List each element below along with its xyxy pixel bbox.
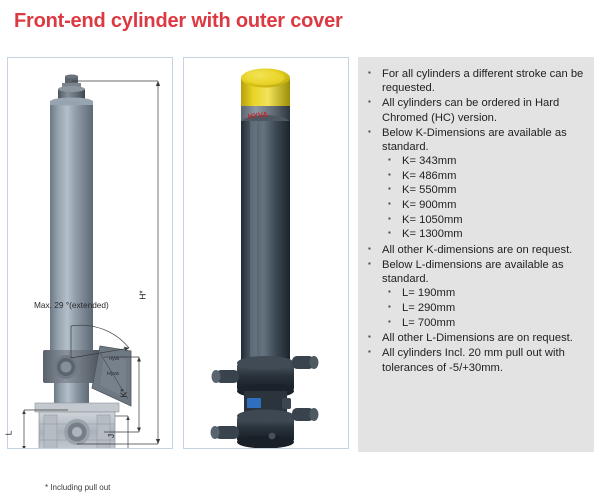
top-port-fitting	[58, 75, 85, 102]
list-item: All cylinders can be ordered in Hard Chr…	[366, 96, 584, 124]
list-item: All cylinders Incl. 20 mm pull out with …	[366, 346, 584, 374]
cylinder-outer-tube	[50, 98, 93, 360]
list-item: K= 1300mm	[382, 227, 584, 242]
list-item: All other K-dimensions are on request.	[366, 243, 584, 257]
panel-drawing-extended: Hyva Hyva	[7, 57, 173, 449]
dimension-label-L: L	[3, 431, 13, 436]
page-title: Front-end cylinder with outer cover	[14, 10, 343, 33]
list-item: Below L-dimensions are available as stan…	[366, 258, 584, 330]
panel-drawing-retracted: HYVA	[183, 57, 349, 449]
spec-text: All cylinders Incl. 20 mm pull out with …	[382, 347, 565, 373]
list-item: Below K-Dimensions are available as stan…	[366, 126, 584, 242]
list-item: L= 190mm	[382, 286, 584, 301]
max-angle-note: Max. 29 °(extended)	[34, 300, 109, 310]
list-item: All other L-Dimensions are on request.	[366, 331, 584, 345]
dimension-label-H: H*	[138, 290, 148, 299]
panel-specifications: For all cylinders a different stroke can…	[358, 57, 594, 452]
list-item: K= 900mm	[382, 198, 584, 213]
dimension-label-J: J	[106, 434, 116, 438]
cylinder-section-drawing: Hyva Hyva	[8, 58, 172, 448]
identification-sticker	[247, 398, 261, 408]
cylinder-3d-render: HYVA	[184, 58, 348, 448]
spec-text: Below L-dimensions are available as stan…	[382, 259, 564, 285]
list-item: K= 343mm	[382, 154, 584, 169]
spec-text: For all cylinders a different stroke can…	[382, 68, 583, 94]
list-item: L= 700mm	[382, 316, 584, 331]
spec-text: Below K-Dimensions are available as stan…	[382, 127, 567, 153]
spec-text: All cylinders can be ordered in Hard Chr…	[382, 97, 559, 123]
lower-trunnion-collar	[211, 408, 319, 448]
outer-cover-tube	[241, 121, 290, 366]
list-item: K= 550mm	[382, 183, 584, 198]
list-item: K= 1050mm	[382, 213, 584, 228]
dimension-label-K: K*	[118, 389, 128, 398]
specification-list: For all cylinders a different stroke can…	[366, 67, 584, 375]
footnote-including-pull-out: * Including pull out	[45, 483, 110, 492]
list-item: For all cylinders a different stroke can…	[366, 67, 584, 95]
k-dimension-list: K= 343mm K= 486mm K= 550mm K= 900mm K= 1…	[382, 154, 584, 242]
spec-text: All other K-dimensions are on request.	[382, 244, 572, 256]
list-item: L= 290mm	[382, 301, 584, 316]
l-dimension-list: L= 190mm L= 290mm L= 700mm	[382, 286, 584, 330]
list-item: K= 486mm	[382, 169, 584, 184]
spec-text: All other L-Dimensions are on request.	[382, 332, 573, 344]
